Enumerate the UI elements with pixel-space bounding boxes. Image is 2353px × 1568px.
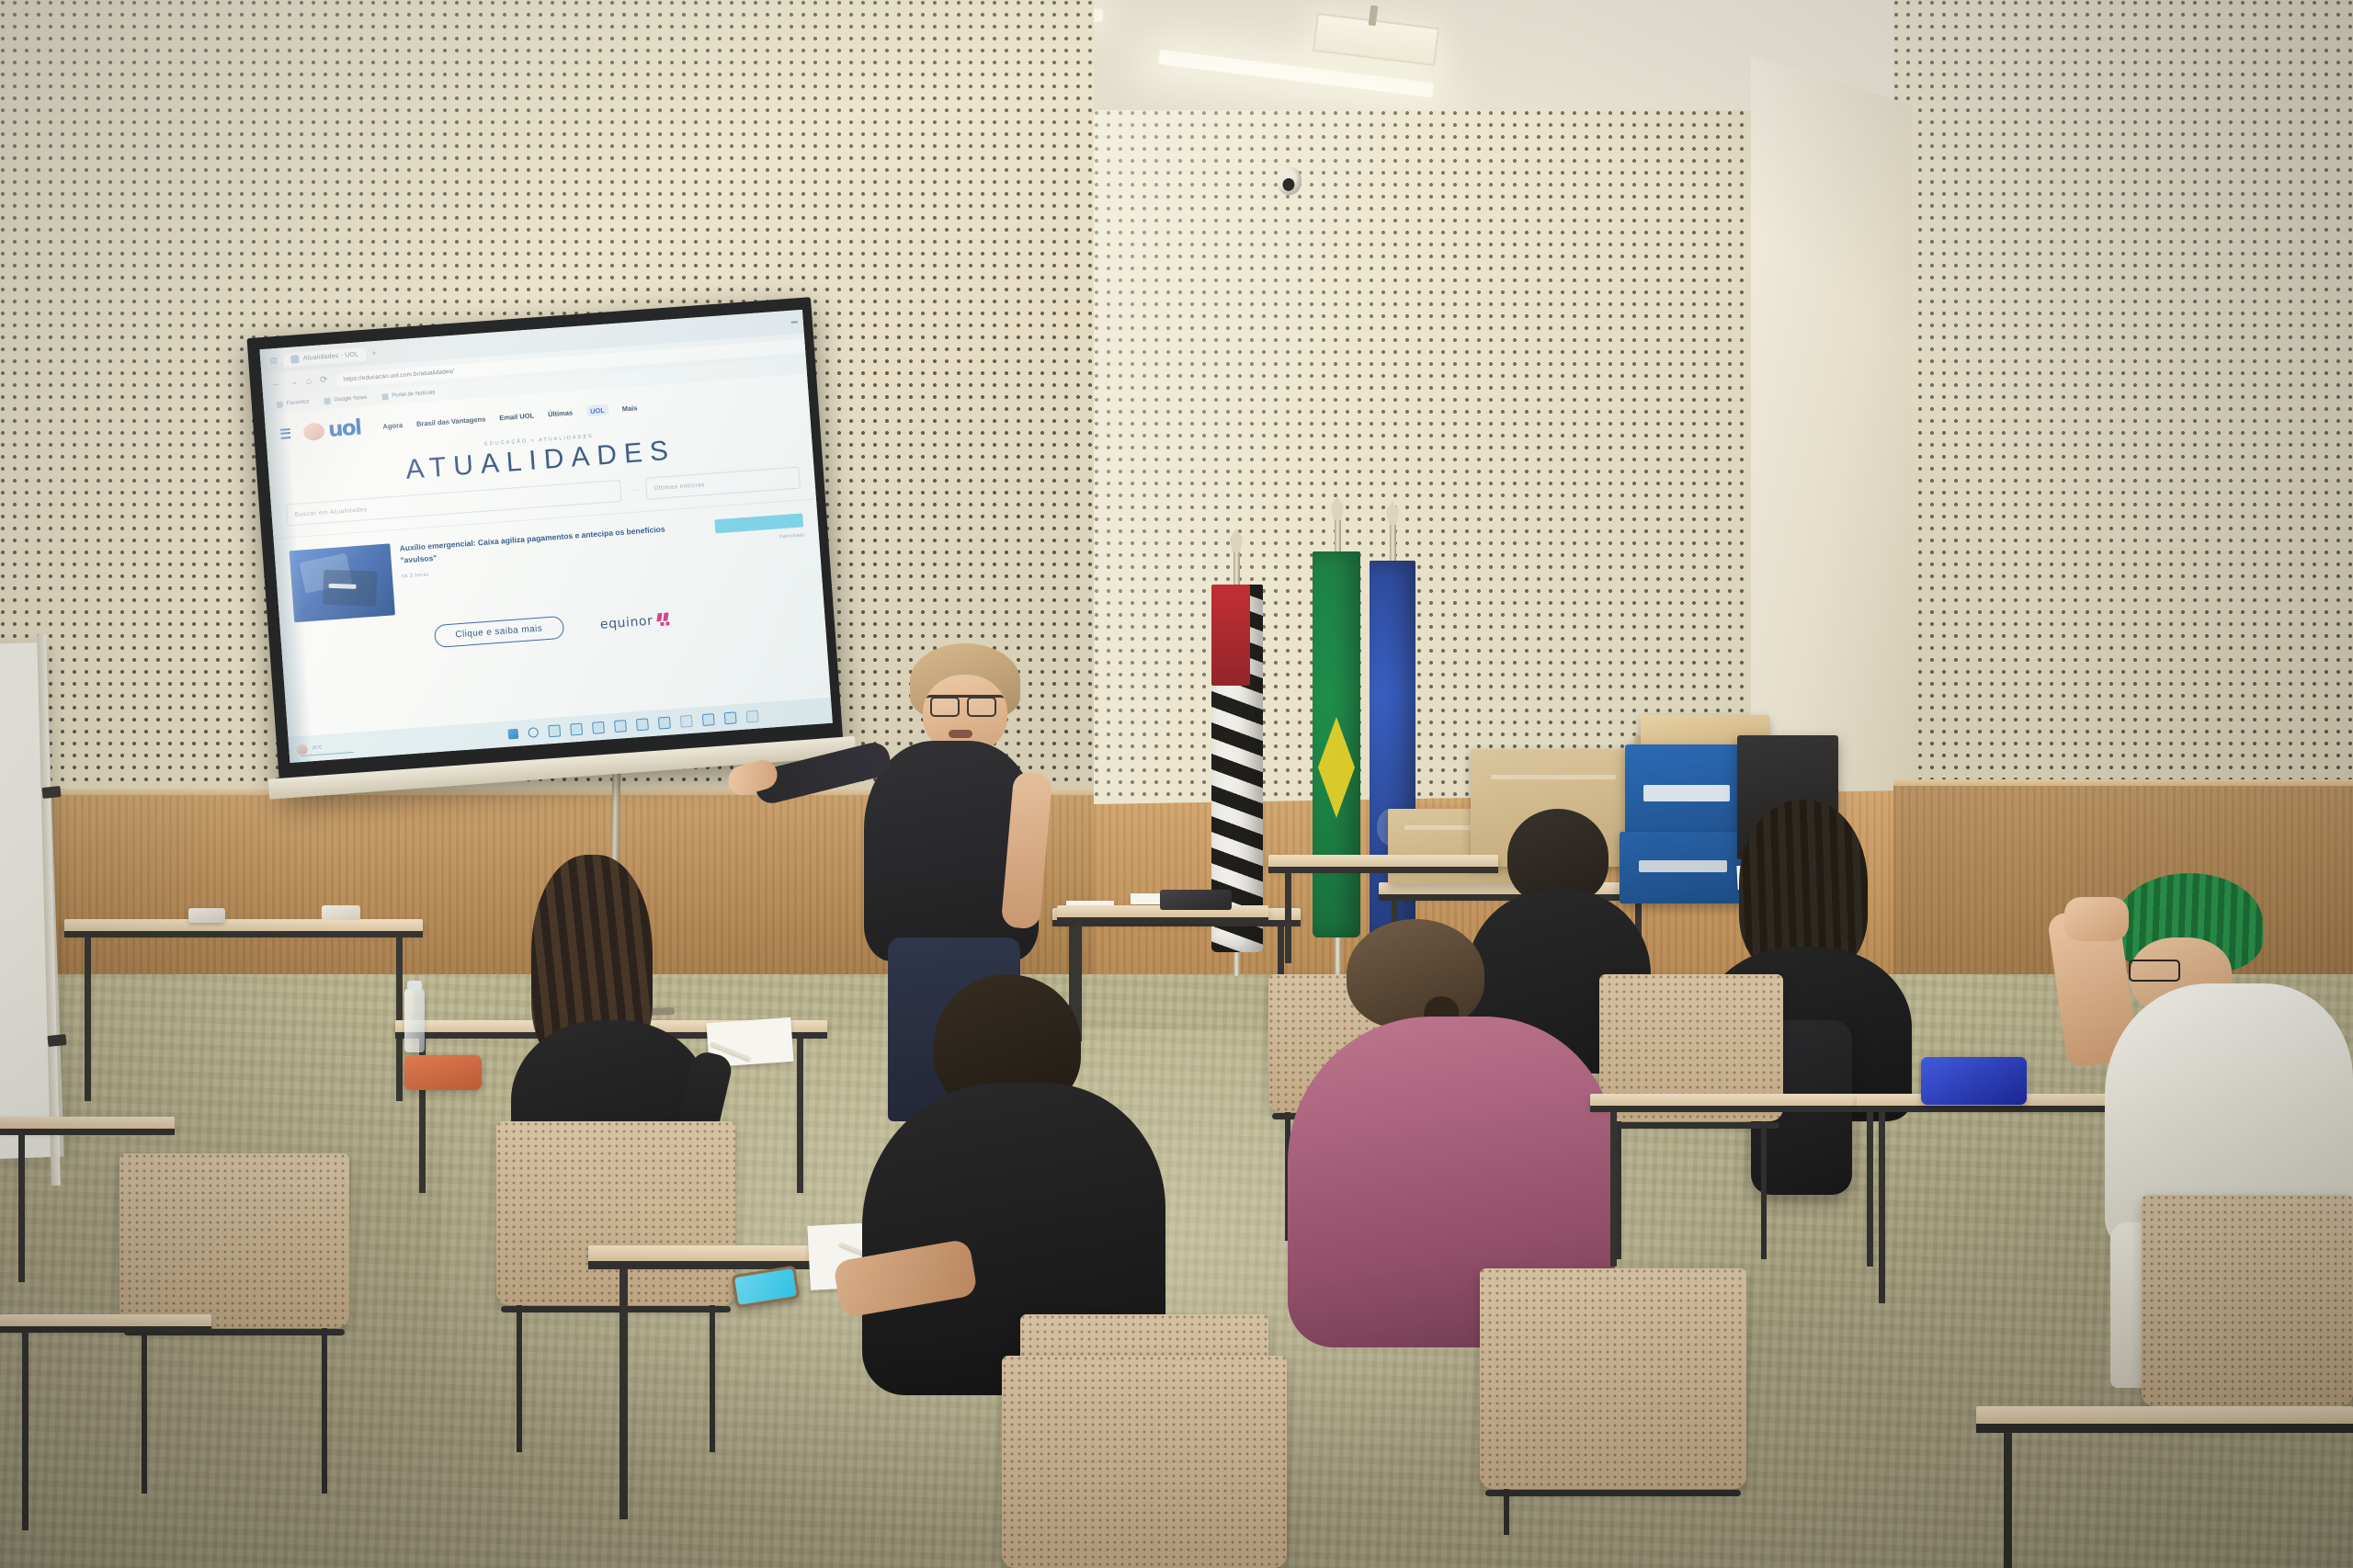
far-right-wall-acoustic-panel: [1893, 0, 2353, 882]
equipment: [1160, 890, 1232, 910]
filter-select[interactable]: Últimas notícias: [645, 467, 801, 500]
cta-button[interactable]: Clique e saiba mais: [434, 616, 564, 648]
desk: [1590, 1094, 1893, 1268]
bookmark-label: Google News: [334, 395, 367, 403]
overflow-icon[interactable]: ···: [628, 485, 639, 494]
mail-icon[interactable]: [614, 720, 627, 733]
desk: [64, 919, 423, 1103]
projection-screen: ▤ Atualidades - UOL + ← → ⌂ ⟳ https://ed: [247, 297, 845, 797]
eraser: [322, 905, 360, 920]
uol-wordmark: uol: [327, 415, 361, 442]
tab-favicon: [290, 355, 299, 364]
equinor-mark-icon: [657, 612, 672, 627]
edge-icon[interactable]: [570, 722, 583, 735]
home-icon[interactable]: ⌂: [306, 377, 313, 386]
teams-icon[interactable]: [657, 716, 670, 729]
bookmark-favicon: [381, 393, 388, 400]
start-icon[interactable]: [507, 728, 518, 739]
glasses-lens-icon: [930, 697, 960, 717]
nav-item[interactable]: Email UOL: [499, 411, 534, 422]
mouth: [949, 730, 972, 738]
chair: [1480, 1268, 1746, 1489]
bookmark-favicon: [324, 397, 330, 403]
chair: [2142, 1195, 2353, 1406]
search-placeholder: Buscar em Atualidades: [294, 506, 367, 518]
bookmark-label: Portal de Notícias: [392, 390, 436, 398]
reload-icon[interactable]: ⟳: [320, 376, 328, 386]
bookmark-item[interactable]: Portal de Notícias: [381, 390, 436, 400]
minimize-icon[interactable]: [791, 322, 798, 324]
filter-placeholder: Últimas notícias: [654, 482, 705, 492]
whiteboard-clip: [41, 786, 61, 799]
forward-icon[interactable]: →: [289, 378, 299, 388]
nav-item[interactable]: Agora: [382, 421, 403, 431]
weather-label: 25°C: [312, 744, 323, 751]
new-tab-button[interactable]: +: [371, 348, 377, 358]
file-explorer-icon[interactable]: [548, 724, 561, 737]
nav-item[interactable]: Últimas: [548, 408, 574, 418]
sponsor-logo: equinor: [599, 612, 672, 632]
store-icon[interactable]: [592, 721, 605, 733]
tab-title: Atualidades - UOL: [303, 351, 359, 361]
glasses-lens-icon: [967, 697, 996, 717]
nav-item[interactable]: UOL: [586, 404, 609, 417]
desk: [1976, 1406, 2353, 1568]
classroom-scene: ▤ Atualidades - UOL + ← → ⌂ ⟳ https://ed: [0, 0, 2353, 1568]
orange-pouch: [404, 1055, 482, 1090]
sponsor-wordmark: equinor: [599, 613, 654, 631]
bookmark-item[interactable]: Google News: [324, 394, 367, 403]
blue-pencil-case: [1921, 1057, 2027, 1105]
glasses-icon: [2129, 960, 2180, 982]
article-side-caption: Patrocinado: [779, 532, 804, 540]
uol-mark-icon: [302, 422, 324, 441]
uol-nav: Agora Brasil das Vantagens Email UOL Últ…: [382, 402, 638, 431]
hand: [2064, 897, 2129, 941]
bookmark-label: Favoritos: [287, 399, 310, 406]
chair[interactable]: [1002, 1356, 1287, 1568]
address-bar-url: https://educacao.uol.com.br/atualidades/: [343, 368, 454, 382]
phone-icon[interactable]: [701, 713, 714, 726]
nav-item[interactable]: Mais: [621, 403, 637, 413]
uol-logo[interactable]: uol: [302, 415, 361, 444]
eraser: [188, 908, 225, 923]
desk: [0, 1314, 211, 1535]
article-thumbnail: [290, 543, 395, 622]
article-side-button[interactable]: [714, 513, 803, 533]
search-icon[interactable]: [528, 727, 539, 738]
copilot-icon[interactable]: [723, 711, 736, 724]
word-icon[interactable]: [635, 718, 648, 731]
browser-tab[interactable]: Atualidades - UOL: [282, 347, 366, 367]
settings-icon[interactable]: [679, 714, 692, 727]
nav-item[interactable]: Brasil das Vantagens: [416, 415, 486, 428]
water-bottle: [404, 988, 425, 1052]
chrome-icon[interactable]: [745, 710, 758, 722]
uol-page: uol Agora Brasil das Vantagens Email UOL…: [265, 374, 831, 737]
